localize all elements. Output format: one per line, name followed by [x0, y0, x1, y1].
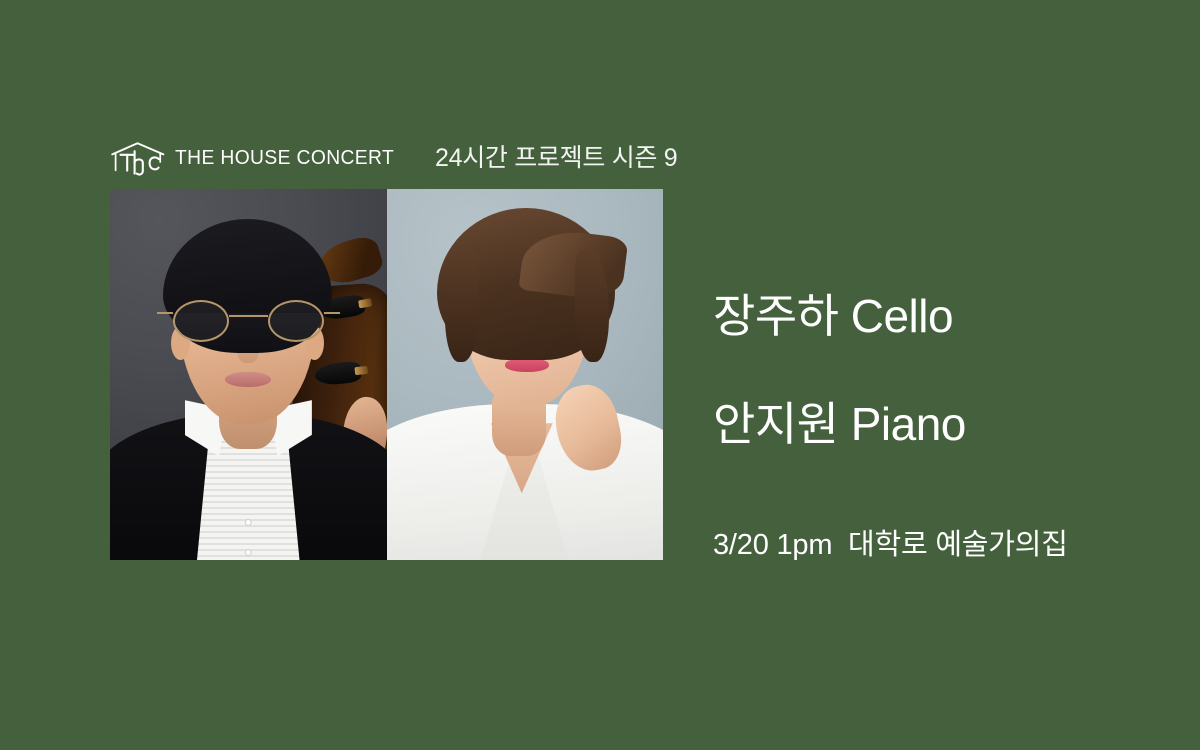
house-outline-thc-monogram-icon — [110, 140, 166, 176]
eyeglass-lens-left — [173, 300, 229, 342]
series-label: 24시간 프로젝트 시즌 9 — [435, 140, 677, 176]
event-details: 3/20 1pm 대학로 예술가의집 — [713, 525, 1068, 565]
concert-poster: THE HOUSE CONCERT 24시간 프로젝트 시즌 9 — [0, 0, 1200, 750]
shirt-button — [245, 519, 252, 526]
eyeglass-temple-left — [157, 312, 173, 314]
round-eyeglasses — [173, 300, 324, 342]
poster-header: THE HOUSE CONCERT 24시간 프로젝트 시즌 9 — [110, 139, 710, 179]
performer-line-piano: 안지원 Piano — [713, 370, 1183, 478]
hair-strand-right — [575, 250, 609, 362]
shirt-button — [245, 549, 252, 556]
performer-line-cello: 장주하 Cello — [713, 262, 1183, 370]
cellist-portrait-photo — [110, 189, 387, 560]
pianist-hair — [437, 208, 615, 360]
eyeglass-bridge — [229, 315, 268, 317]
brand-lockup: THE HOUSE CONCERT — [110, 139, 408, 177]
mouth — [225, 372, 271, 387]
performer-photo-diptych — [110, 189, 663, 560]
performer-credits: 장주하 Cello 안지원 Piano — [713, 262, 1183, 478]
eyeglass-lens-right — [268, 300, 324, 342]
brand-wordmark: THE HOUSE CONCERT — [175, 148, 394, 169]
hair-strand-left — [445, 250, 479, 362]
pianist-portrait-photo — [387, 189, 664, 560]
lips — [505, 358, 549, 372]
eyeglass-temple-right — [324, 312, 340, 314]
